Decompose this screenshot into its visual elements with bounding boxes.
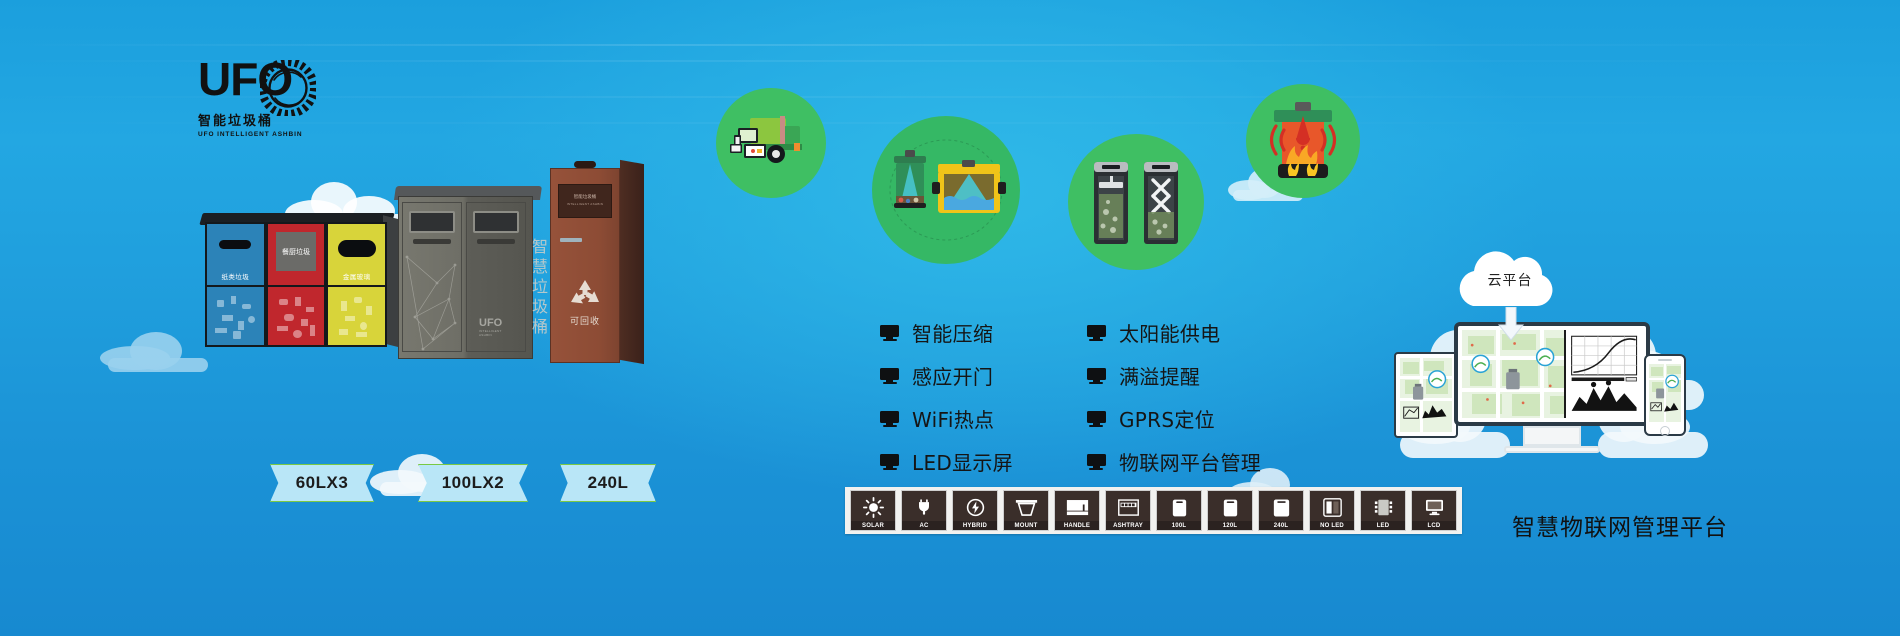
feature-item: WiFi热点 [880, 404, 1013, 433]
compression-bins-icon [1068, 134, 1204, 270]
feature-item: 智能压缩 [880, 318, 1013, 347]
option-badge-ashtray[interactable]: ASHTRAY [1105, 490, 1151, 531]
option-badge-no-led[interactable]: NO LED [1309, 490, 1355, 531]
badge-label: 100L [1157, 521, 1201, 530]
smartphone-device [1644, 354, 1686, 436]
feature-circle-smart-collection-truck [716, 88, 826, 198]
handle-icon [1055, 494, 1099, 521]
monitor-icon [880, 325, 899, 341]
monitor-icon [880, 454, 899, 470]
badge-label: NO LED [1310, 521, 1354, 530]
bin-100l-icon [1157, 494, 1201, 521]
option-badge-100l[interactable]: 100L [1156, 490, 1202, 531]
feature-circle-waste-compression [1068, 134, 1204, 270]
recycle-icon [568, 278, 602, 308]
ashtray-icon [1106, 494, 1150, 521]
product-grey-double-bin: UFO INTELLIGENT ASHBIN 智慧垃圾桶 [398, 196, 533, 359]
bin-compartment-metal-glass: 金属玻璃 [326, 222, 387, 347]
sun-icon [851, 494, 895, 521]
tablet-device [1394, 352, 1458, 438]
grey-bin-side-text: 智慧垃圾桶 [526, 238, 550, 338]
feature-label: LED显示屏 [912, 447, 1013, 476]
capacity-label: 100LX2 [442, 473, 505, 493]
hybrid-power-icon [953, 494, 997, 521]
feature-column-right: 太阳能供电 满溢提醒 GPRS定位 物联网平台管理 [1087, 318, 1261, 476]
option-badge-led[interactable]: LED [1360, 490, 1406, 531]
feature-item: 满溢提醒 [1087, 361, 1261, 390]
capacity-ribbon-240l: 240L [560, 464, 656, 502]
capacity-ribbon-100lx2: 100LX2 [418, 464, 528, 502]
feature-label: 智能压缩 [912, 318, 993, 347]
no-led-panel-icon [1310, 494, 1354, 521]
capacity-label: 240L [588, 473, 629, 493]
product-brown-recycling-bin: 智能垃圾桶 INTELLIGENT ASHBIN 可回收 [550, 168, 642, 363]
device-mockup-group [1390, 300, 1710, 490]
badge-label: SOLAR [851, 521, 895, 530]
litter-graphic [207, 287, 264, 345]
download-arrow-icon [1497, 307, 1525, 341]
monitor-icon [880, 411, 899, 427]
cloud-platform-label: 云平台 [1455, 270, 1565, 290]
badge-label: 120L [1208, 521, 1252, 530]
feature-label: WiFi热点 [912, 404, 994, 433]
option-badge-120l[interactable]: 120L [1207, 490, 1253, 531]
promo-banner: UFO 智能垃圾桶 UFO INTELLIGENT ASHBIN 纸类垃圾 [0, 0, 1900, 636]
desktop-monitor-device [1454, 322, 1650, 448]
monitor-icon [1087, 454, 1106, 470]
feature-label: 物联网平台管理 [1119, 447, 1261, 476]
feature-circle-fire-alarm-detection [1246, 84, 1360, 198]
option-badge-ac[interactable]: AC [901, 490, 947, 531]
fire-alarm-bin-icon [1246, 84, 1360, 198]
garbage-truck-with-devices-icon [716, 88, 826, 198]
feature-label: 感应开门 [912, 361, 993, 390]
feature-label: 满溢提醒 [1119, 361, 1200, 390]
bin-compartment-kitchen-waste: 餐厨垃圾 [266, 222, 327, 347]
monitor-icon [1087, 368, 1106, 384]
option-badge-handle[interactable]: HANDLE [1054, 490, 1100, 531]
monitor-icon [1087, 411, 1106, 427]
option-badge-240l[interactable]: 240L [1258, 490, 1304, 531]
option-badge-strip: SOLAR AC HYBRID MOUNT [845, 487, 1462, 534]
logo-english-tagline: UFO INTELLIGENT ASHBIN [198, 131, 316, 138]
badge-label: 240L [1259, 521, 1303, 530]
feature-circle-fill-level-sensor [872, 116, 1020, 264]
feature-label: 太阳能供电 [1119, 318, 1221, 347]
feature-item: LED显示屏 [880, 447, 1013, 476]
ultrasonic-fill-sensor-icon [872, 116, 1020, 264]
feature-label: GPRS定位 [1119, 404, 1215, 433]
compartment-label: 纸类垃圾 [207, 271, 264, 281]
monitor-icon [880, 368, 899, 384]
platform-title: 智慧物联网管理平台 [1455, 508, 1785, 542]
brown-bin-panel-text: 智能垃圾桶 [559, 194, 611, 200]
badge-label: MOUNT [1004, 521, 1048, 530]
feature-item: 物联网平台管理 [1087, 447, 1261, 476]
monitor-icon [1087, 325, 1106, 341]
bin-120l-icon [1208, 494, 1252, 521]
power-plug-icon [902, 494, 946, 521]
bearing-ring-icon [260, 60, 316, 116]
feature-column-left: 智能压缩 感应开门 WiFi热点 LED显示屏 [880, 318, 1013, 476]
compartment-label: 金属玻璃 [328, 271, 385, 281]
feature-item: 太阳能供电 [1087, 318, 1261, 347]
option-badge-lcd[interactable]: LCD [1411, 490, 1457, 531]
brown-bin-front-text: 可回收 [550, 314, 620, 327]
litter-graphic [268, 287, 325, 345]
feature-list: 智能压缩 感应开门 WiFi热点 LED显示屏 太阳能供电 满溢提醒 [880, 318, 1261, 476]
option-badge-solar[interactable]: SOLAR [850, 490, 896, 531]
litter-graphic [328, 287, 385, 345]
bin-compartment-recyclable: 纸类垃圾 [205, 222, 266, 347]
capacity-ribbon-60lx3: 60LX3 [270, 464, 374, 502]
feature-item: 感应开门 [880, 361, 1013, 390]
capacity-label: 60LX3 [296, 473, 349, 493]
badge-label: LCD [1412, 521, 1456, 530]
sky-streak [0, 44, 1900, 46]
brown-bin-panel-subtext: INTELLIGENT ASHBIN [559, 202, 611, 206]
product-three-compartment-bin: 纸类垃圾 [205, 222, 387, 347]
bin-240l-icon [1259, 494, 1303, 521]
option-badge-mount[interactable]: MOUNT [1003, 490, 1049, 531]
brand-logo: UFO 智能垃圾桶 UFO INTELLIGENT ASHBIN [198, 56, 316, 148]
badge-label: LED [1361, 521, 1405, 530]
badge-label: AC [902, 521, 946, 530]
option-badge-hybrid[interactable]: HYBRID [952, 490, 998, 531]
led-panel-icon [1361, 494, 1405, 521]
lcd-screen-icon [1412, 494, 1456, 521]
badge-label: ASHTRAY [1106, 521, 1150, 530]
badge-label: HYBRID [953, 521, 997, 530]
feature-item: GPRS定位 [1087, 404, 1261, 433]
badge-label: HANDLE [1055, 521, 1099, 530]
wall-mount-icon [1004, 494, 1048, 521]
compartment-label: 餐厨垃圾 [282, 247, 310, 257]
